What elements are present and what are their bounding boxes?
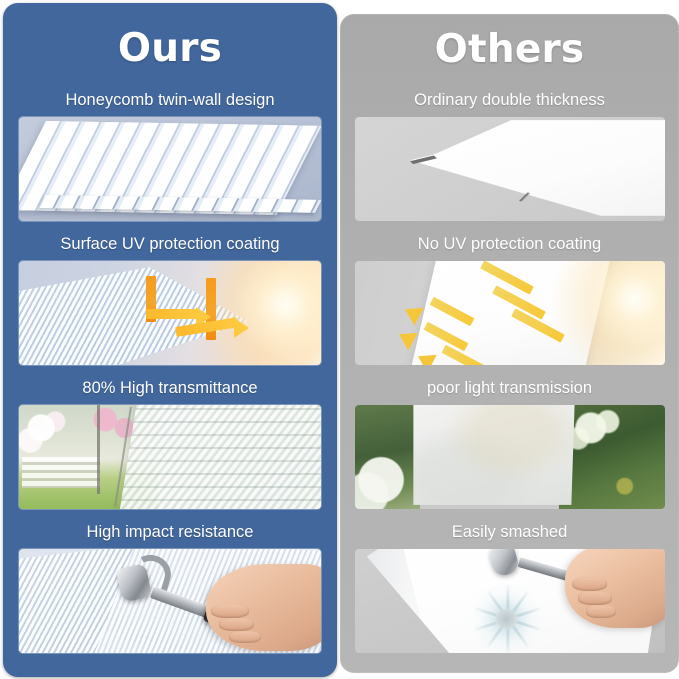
ours-row-3-label: 80% High transmittance — [3, 377, 337, 399]
comparison-infographic: Ours Honeycomb twin-wall design Surface … — [0, 0, 679, 679]
finger — [586, 605, 616, 618]
finger — [211, 604, 249, 618]
clear-garden-view-figure — [19, 405, 321, 509]
ours-row-twin-wall: Honeycomb twin-wall design — [3, 89, 337, 221]
uv-reflection-figure — [19, 261, 321, 365]
others-row-smashed: Easily smashed — [340, 521, 679, 653]
hammer-shattered-panel-figure — [355, 549, 665, 653]
sun-glow-icon — [541, 261, 665, 365]
others-row-uv: No UV protection coating — [340, 233, 679, 365]
transparent-twin-wall-panel — [118, 405, 321, 509]
others-row-2-label: No UV protection coating — [340, 233, 679, 255]
uv-reflected-arrowhead-2 — [234, 318, 249, 338]
ours-row-2-label: Surface UV protection coating — [3, 233, 337, 255]
others-panel-title: Others — [340, 28, 679, 72]
hand-icon — [565, 549, 664, 628]
ours-panel-title: Ours — [3, 27, 337, 71]
crack-impact-point — [496, 609, 518, 629]
garden-post — [97, 405, 100, 494]
plain-sheet-figure — [355, 117, 665, 221]
blocked-garden-view-figure — [355, 405, 665, 509]
finger — [229, 631, 261, 643]
twin-wall-sheet-figure — [19, 117, 321, 221]
uv-passthrough-figure — [355, 261, 665, 365]
ours-row-uv: Surface UV protection coating — [3, 233, 337, 365]
uv-exit-arrowhead-2 — [394, 325, 418, 350]
uv-reflected-ray-1 — [146, 309, 198, 319]
garden-steps — [22, 457, 100, 488]
ours-row-transmittance: 80% High transmittance — [3, 377, 337, 509]
finger — [572, 577, 608, 591]
others-row-transmission: poor light transmission — [340, 377, 679, 509]
others-row-3-label: poor light transmission — [340, 377, 679, 399]
others-row-4-label: Easily smashed — [340, 521, 679, 543]
hammer-resistant-panel-figure — [19, 549, 321, 653]
ours-row-4-label: High impact resistance — [3, 521, 337, 543]
others-panel: Others Ordinary double thickness No UV p… — [340, 14, 679, 673]
ours-row-1-label: Honeycomb twin-wall design — [3, 89, 337, 111]
hand-icon — [206, 564, 321, 651]
others-row-thickness: Ordinary double thickness — [340, 89, 679, 221]
ours-panel: Ours Honeycomb twin-wall design Surface … — [3, 3, 337, 677]
ours-row-impact: High impact resistance — [3, 521, 337, 653]
opaque-sheet — [413, 405, 574, 505]
garden-bush-right — [559, 405, 664, 509]
finger — [219, 618, 255, 631]
shatter-crack-icon — [464, 576, 550, 653]
finger — [578, 591, 612, 605]
others-row-1-label: Ordinary double thickness — [340, 89, 679, 111]
garden-bush-left — [355, 405, 420, 509]
uv-exit-arrowhead-1 — [400, 300, 424, 325]
